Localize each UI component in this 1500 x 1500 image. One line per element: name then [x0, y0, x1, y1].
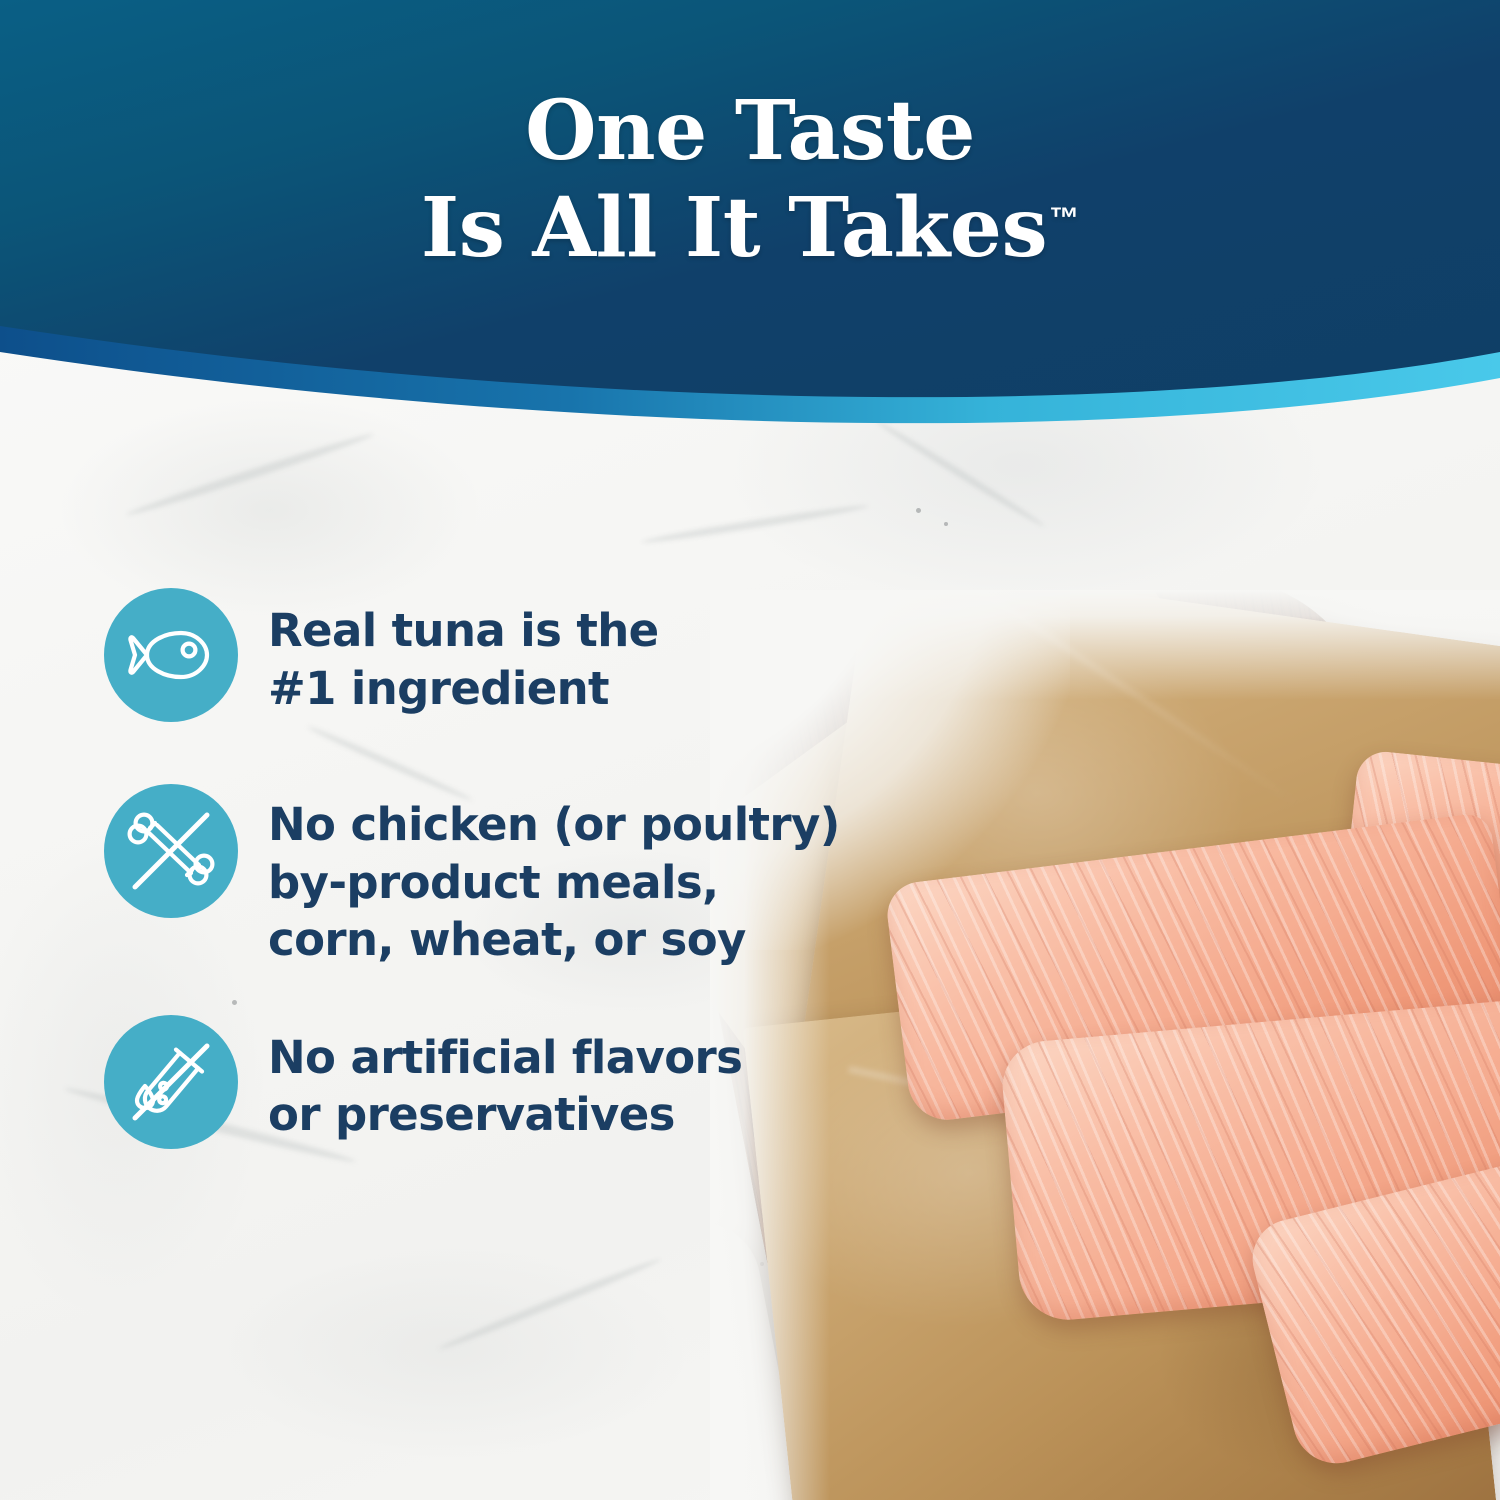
benefit-text: No chicken (or poultry) by-product meals… [268, 784, 840, 969]
benefit-item: No artificial flavors or preservatives [104, 1015, 884, 1149]
benefit-text: Real tuna is the #1 ingredient [268, 588, 659, 717]
benefit-text: No artificial flavors or preservatives [268, 1015, 742, 1144]
benefit-line: or preservatives [268, 1086, 742, 1144]
benefit-line: corn, wheat, or soy [268, 911, 840, 969]
no-bone-icon [104, 784, 238, 918]
benefit-line: No chicken (or poultry) [268, 796, 840, 854]
fish-icon [104, 588, 238, 722]
benefit-line: No artificial flavors [268, 1029, 742, 1087]
benefit-item: No chicken (or poultry) by-product meals… [104, 784, 884, 969]
product-benefit-card: One Taste Is All It Takes™ Real tuna is … [0, 0, 1500, 1500]
no-test-tube-icon [104, 1015, 238, 1149]
header-banner-shape [0, 0, 1500, 397]
benefit-line: #1 ingredient [268, 660, 659, 718]
benefit-list: Real tuna is the #1 ingredient [104, 588, 884, 1149]
benefit-line: Real tuna is the [268, 602, 659, 660]
benefit-line: by-product meals, [268, 854, 840, 912]
header-banner: One Taste Is All It Takes™ [0, 0, 1500, 430]
benefit-item: Real tuna is the #1 ingredient [104, 588, 884, 722]
